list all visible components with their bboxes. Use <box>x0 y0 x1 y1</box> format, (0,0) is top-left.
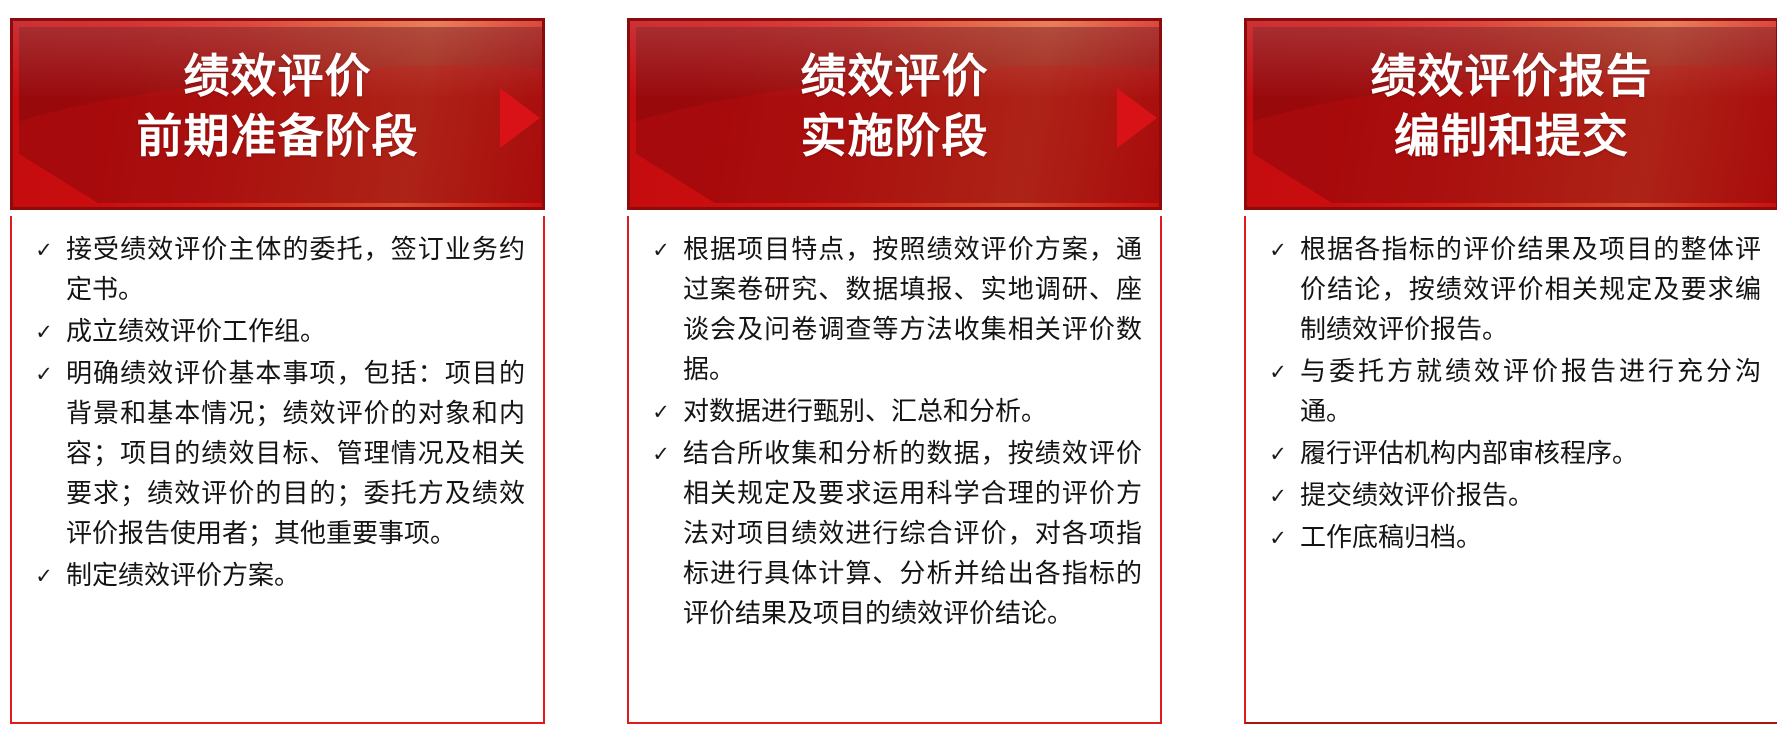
stage-2-title: 绩效评价 实施阶段 <box>630 21 1159 167</box>
list-item-label: 根据项目特点，按照绩效评价方案，通过案卷研究、数据填报、实地调研、座谈会及问卷调… <box>683 230 1146 390</box>
list-item-label: 明确绩效评价基本事项，包括：项目的背景和基本情况；绩效评价的对象和内容；项目的绩… <box>66 354 529 554</box>
check-mark-icon: ✓ <box>22 312 66 352</box>
check-mark-icon: ✓ <box>1256 352 1300 392</box>
list-item-label: 提交绩效评价报告。 <box>1300 476 1765 516</box>
list-item-label: 结合所收集和分析的数据，按绩效评价相关规定及要求运用科学合理的评价方法对项目绩效… <box>683 434 1146 634</box>
list-item: ✓ 根据项目特点，按照绩效评价方案，通过案卷研究、数据填报、实地调研、座谈会及问… <box>639 230 1146 390</box>
list-item: ✓ 提交绩效评价报告。 <box>1256 476 1765 516</box>
stage-3-header-banner: 绩效评价报告 编制和提交 <box>1244 18 1777 210</box>
stage-1-item-list: ✓ 接受绩效评价主体的委托，签订业务约定书。 ✓ 成立绩效评价工作组。 ✓ 明确… <box>22 230 529 596</box>
list-item: ✓ 接受绩效评价主体的委托，签订业务约定书。 <box>22 230 529 310</box>
check-mark-icon: ✓ <box>22 354 66 394</box>
stage-3-body: ✓ 根据各指标的评价结果及项目的整体评价结论，按绩效评价相关规定及要求编制绩效评… <box>1244 216 1777 724</box>
stage-1-header-banner: 绩效评价 前期准备阶段 <box>10 18 545 210</box>
stage-2-item-list: ✓ 根据项目特点，按照绩效评价方案，通过案卷研究、数据填报、实地调研、座谈会及问… <box>639 230 1146 634</box>
list-item: ✓ 成立绩效评价工作组。 <box>22 312 529 352</box>
list-item-label: 制定绩效评价方案。 <box>66 556 529 596</box>
list-item-label: 履行评估机构内部审核程序。 <box>1300 434 1765 474</box>
stage-1: 绩效评价 前期准备阶段 ✓ 接受绩效评价主体的委托，签订业务约定书。 ✓ 成立绩… <box>10 18 545 728</box>
stage-1-body: ✓ 接受绩效评价主体的委托，签订业务约定书。 ✓ 成立绩效评价工作组。 ✓ 明确… <box>10 216 545 724</box>
list-item-label: 成立绩效评价工作组。 <box>66 312 529 352</box>
check-mark-icon: ✓ <box>22 556 66 596</box>
list-item: ✓ 根据各指标的评价结果及项目的整体评价结论，按绩效评价相关规定及要求编制绩效评… <box>1256 230 1765 350</box>
list-item: ✓ 结合所收集和分析的数据，按绩效评价相关规定及要求运用科学合理的评价方法对项目… <box>639 434 1146 634</box>
check-mark-icon: ✓ <box>639 392 683 432</box>
list-item-label: 与委托方就绩效评价报告进行充分沟通。 <box>1300 352 1765 432</box>
stage-3-title: 绩效评价报告 编制和提交 <box>1247 21 1776 167</box>
check-mark-icon: ✓ <box>22 230 66 270</box>
stage-2-header-banner: 绩效评价 实施阶段 <box>627 18 1162 210</box>
check-mark-icon: ✓ <box>1256 476 1300 516</box>
process-flow-diagram: 绩效评价 前期准备阶段 ✓ 接受绩效评价主体的委托，签订业务约定书。 ✓ 成立绩… <box>0 0 1777 745</box>
list-item: ✓ 明确绩效评价基本事项，包括：项目的背景和基本情况；绩效评价的对象和内容；项目… <box>22 354 529 554</box>
stage-2-body: ✓ 根据项目特点，按照绩效评价方案，通过案卷研究、数据填报、实地调研、座谈会及问… <box>627 216 1162 724</box>
check-mark-icon: ✓ <box>1256 434 1300 474</box>
list-item: ✓ 工作底稿归档。 <box>1256 518 1765 558</box>
stage-3-item-list: ✓ 根据各指标的评价结果及项目的整体评价结论，按绩效评价相关规定及要求编制绩效评… <box>1256 230 1765 558</box>
list-item: ✓ 对数据进行甄别、汇总和分析。 <box>639 392 1146 432</box>
list-item: ✓ 制定绩效评价方案。 <box>22 556 529 596</box>
check-mark-icon: ✓ <box>639 230 683 270</box>
stage-1-title: 绩效评价 前期准备阶段 <box>13 21 542 167</box>
stage-3: 绩效评价报告 编制和提交 ✓ 根据各指标的评价结果及项目的整体评价结论，按绩效评… <box>1244 18 1777 728</box>
list-item: ✓ 与委托方就绩效评价报告进行充分沟通。 <box>1256 352 1765 432</box>
check-mark-icon: ✓ <box>1256 518 1300 558</box>
stage-2: 绩效评价 实施阶段 ✓ 根据项目特点，按照绩效评价方案，通过案卷研究、数据填报、… <box>627 18 1162 728</box>
check-mark-icon: ✓ <box>639 434 683 474</box>
list-item-label: 对数据进行甄别、汇总和分析。 <box>683 392 1146 432</box>
list-item-label: 接受绩效评价主体的委托，签订业务约定书。 <box>66 230 529 310</box>
list-item: ✓ 履行评估机构内部审核程序。 <box>1256 434 1765 474</box>
list-item-label: 工作底稿归档。 <box>1300 518 1765 558</box>
check-mark-icon: ✓ <box>1256 230 1300 270</box>
list-item-label: 根据各指标的评价结果及项目的整体评价结论，按绩效评价相关规定及要求编制绩效评价报… <box>1300 230 1765 350</box>
